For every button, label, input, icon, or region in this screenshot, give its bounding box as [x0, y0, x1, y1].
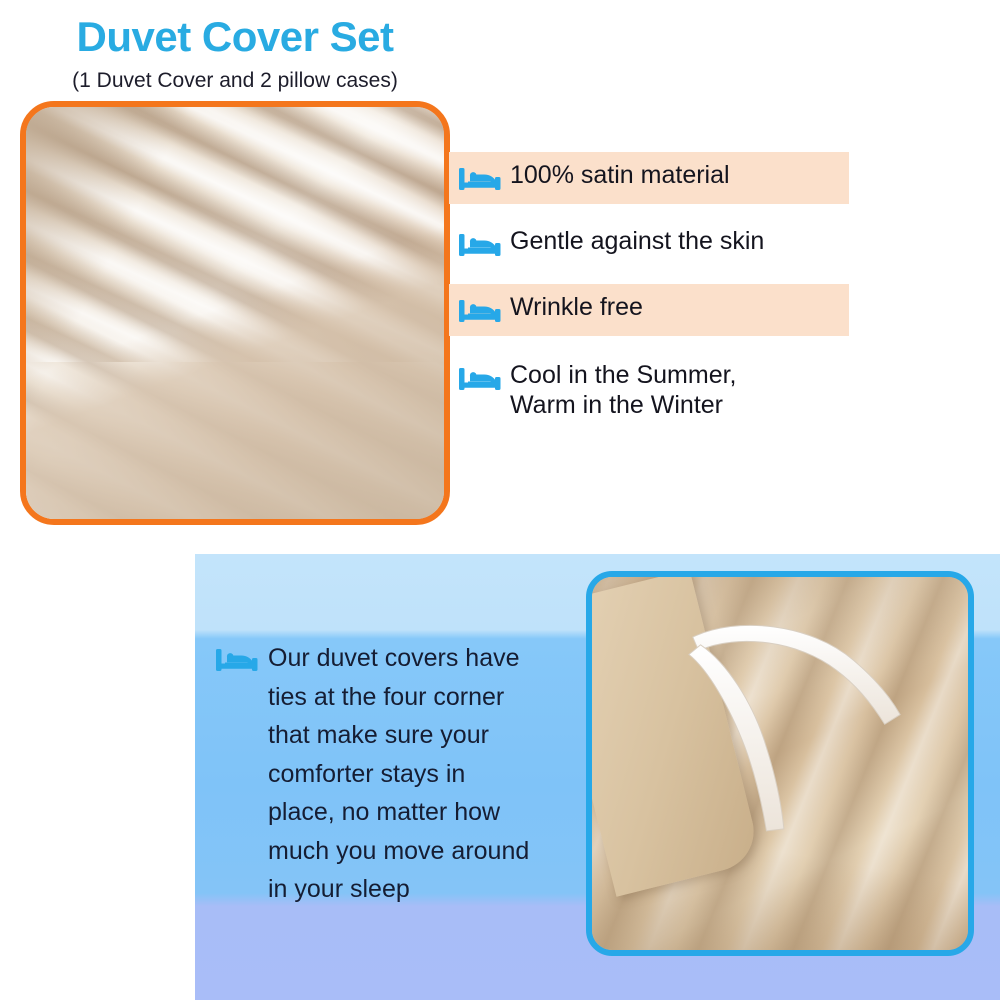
- bed-icon: [215, 645, 259, 675]
- bed-icon: [458, 230, 502, 260]
- tie-feature-paragraph: Our duvet covers have ties at the four c…: [268, 639, 529, 909]
- feature-list: 100% satin material Gentle against the s…: [449, 152, 849, 428]
- header-block: Duvet Cover Set (1 Duvet Cover and 2 pil…: [0, 0, 470, 91]
- feature-label: Wrinkle free: [510, 292, 643, 323]
- feature-item-wrinkle-free: Wrinkle free: [449, 284, 849, 336]
- satin-corner-fold: [26, 107, 444, 519]
- feature-label: Gentle against the skin: [510, 226, 764, 257]
- feature-label: Cool in the Summer, Warm in the Winter: [510, 360, 737, 420]
- duvet-tie-photo: [586, 571, 974, 956]
- satin-fabric-photo: [20, 101, 450, 525]
- feature-spacer: [449, 336, 849, 352]
- feature-item-satin-material: 100% satin material: [449, 152, 849, 204]
- page-subtitle: (1 Duvet Cover and 2 pillow cases): [0, 70, 470, 91]
- feature-spacer: [449, 270, 849, 284]
- bed-icon: [458, 164, 502, 194]
- feature-item-cool-warm: Cool in the Summer, Warm in the Winter: [449, 352, 849, 428]
- feature-spacer: [449, 204, 849, 218]
- bed-icon: [458, 364, 502, 394]
- feature-item-gentle-skin: Gentle against the skin: [449, 218, 849, 270]
- white-ribbon-ties: [592, 577, 968, 950]
- feature-label: 100% satin material: [510, 160, 730, 191]
- tie-feature-text-block: Our duvet covers have ties at the four c…: [215, 639, 590, 909]
- bed-icon: [458, 296, 502, 326]
- page-title: Duvet Cover Set: [0, 16, 470, 58]
- left-white-gutter: [0, 554, 195, 1000]
